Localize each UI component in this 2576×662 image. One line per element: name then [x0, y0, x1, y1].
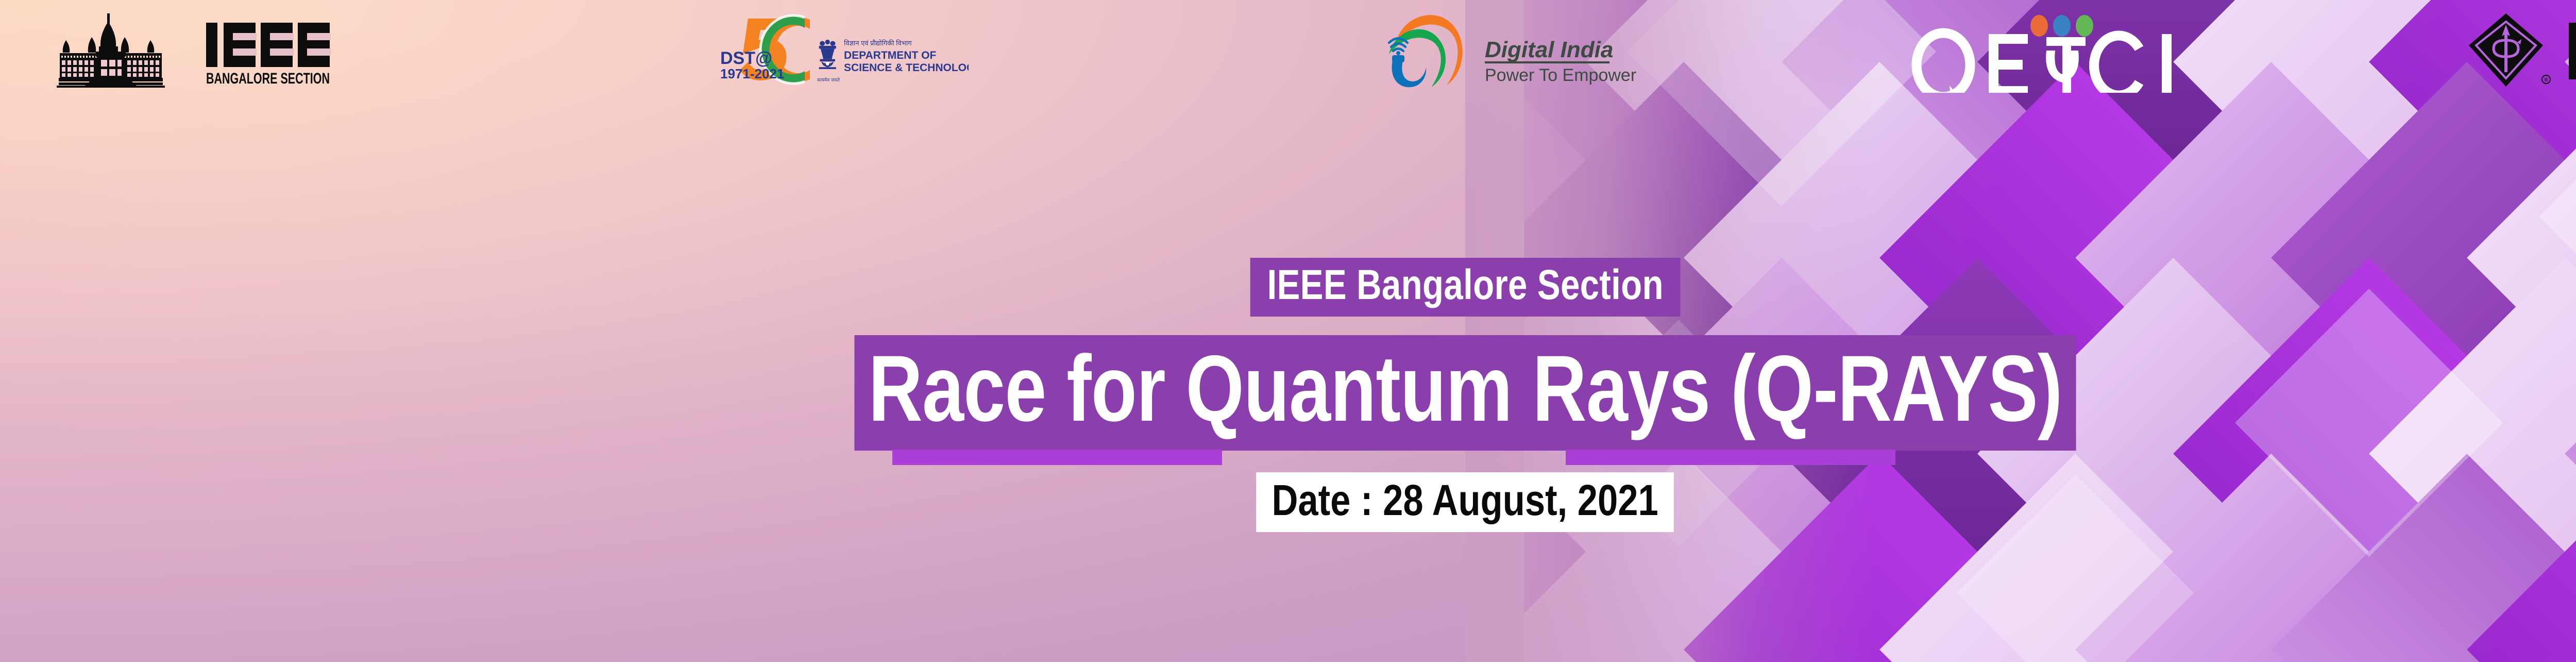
logo-digital-india[interactable]: Digital India Power To Empower: [1370, 0, 1638, 98]
ieee-diamond-kite-icon: ®: [2468, 10, 2576, 88]
organizer-kicker: IEEE Bangalore Section: [1250, 258, 1680, 317]
event-date: Date : 28 August, 2021: [1257, 472, 1674, 532]
kicker-wrapper: IEEE Bangalore Section: [1203, 258, 1727, 317]
dst-emblem-motto: सत्यमेव जयते: [817, 77, 840, 82]
title-wrapper: Race for Quantum Rays (Q-RAYS): [702, 335, 2229, 451]
dst-50-anniversary-icon: DST@ 1971-2021 सत्यमेव जयते विज्ञान एवं: [716, 10, 969, 88]
logo-qetci[interactable]: [1906, 0, 2179, 98]
qetci-dot-orange: [2030, 15, 2048, 37]
event-banner: BANGALORE SECTION DST@ 1971-2021: [0, 0, 2576, 662]
qetci-dot-blue: [2053, 15, 2071, 37]
dst-line1: DEPARTMENT OF: [844, 49, 936, 61]
logo-ieee[interactable]: ®: [2468, 0, 2576, 98]
dst-hindi-line: विज्ञान एवं प्रौद्योगिकी विभाग: [844, 39, 912, 47]
digital-india-tagline: Power To Empower: [1485, 65, 1636, 85]
accent-bar-left: [892, 450, 1222, 465]
accent-bar-right: [1566, 450, 1895, 465]
sponsor-logo-strip: BANGALORE SECTION DST@ 1971-2021: [0, 0, 2576, 98]
ashoka-lion-capital-icon: [819, 40, 836, 69]
ieee-bangalore-subtitle: BANGALORE SECTION: [206, 70, 330, 87]
ieee-trademark: ®: [2544, 77, 2548, 83]
digital-india-title: Digital India: [1485, 37, 1613, 62]
event-title: Race for Quantum Rays (Q-RAYS): [854, 335, 2076, 451]
date-wrapper: Date : 28 August, 2021: [1216, 472, 1714, 532]
logo-ieee-bangalore-section[interactable]: BANGALORE SECTION: [52, 0, 340, 98]
digital-india-swirl-icon: Digital India Power To Empower: [1370, 8, 1638, 90]
qetci-dot-green: [2076, 15, 2093, 37]
banner-text-block: IEEE Bangalore Section Race for Quantum …: [0, 258, 2576, 532]
qetci-psi-icon: [1906, 5, 2179, 93]
accent-bar-row: [873, 450, 2058, 465]
dst-years: 1971-2021: [720, 66, 784, 81]
logo-dst-50[interactable]: DST@ 1971-2021 सत्यमेव जयते विज्ञान एवं: [716, 0, 969, 98]
vidhana-soudha-building-icon: BANGALORE SECTION: [52, 10, 340, 88]
dst-label: DST@: [720, 48, 772, 68]
dst-line2: SCIENCE & TECHNOLOGY: [844, 62, 969, 74]
